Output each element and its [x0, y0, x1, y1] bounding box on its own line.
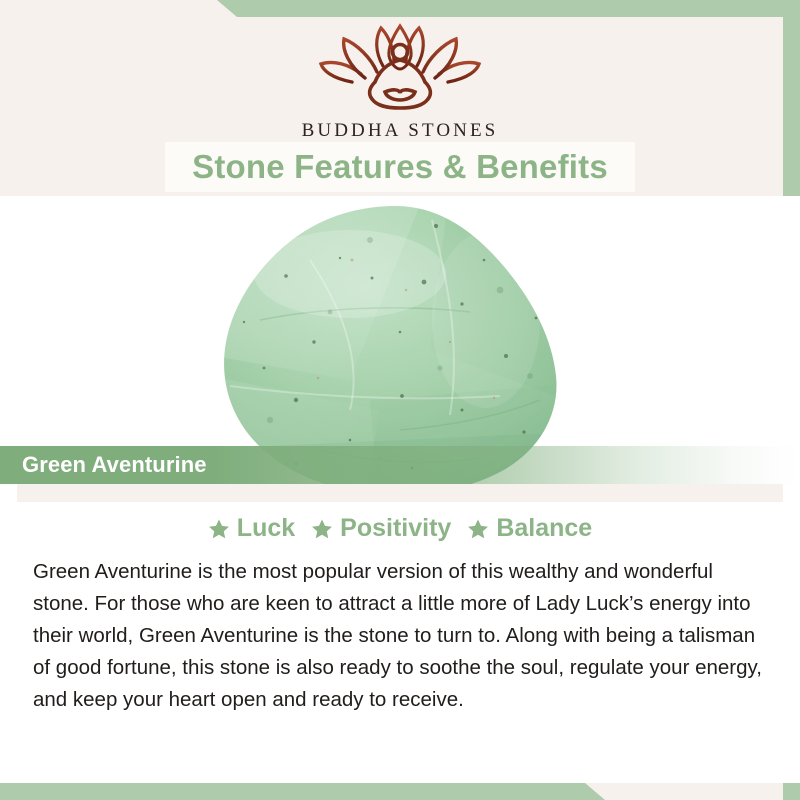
stone-name-label: Green Aventurine [22, 452, 207, 478]
poster-canvas: BUDDHA STONES Stone Features & Benefits [0, 0, 800, 800]
star-icon [467, 518, 489, 540]
benefit-label: Luck [237, 514, 295, 543]
benefit-item-luck: Luck [208, 514, 295, 543]
description-panel: Luck Positivity Balance Green Aventurine… [0, 484, 800, 783]
benefit-item-positivity: Positivity [311, 514, 451, 543]
brand-name: BUDDHA STONES [0, 120, 800, 142]
headline-banner: Stone Features & Benefits [165, 142, 635, 192]
benefit-label: Balance [496, 514, 592, 543]
benefit-label: Positivity [340, 514, 451, 543]
star-icon [208, 518, 230, 540]
page-title: Stone Features & Benefits [192, 148, 608, 186]
frame-bottom-bar [0, 783, 605, 800]
description-text: Green Aventurine is the most popular ver… [33, 556, 773, 716]
lotus-meditation-icon [315, 22, 485, 114]
benefits-row: Luck Positivity Balance [0, 514, 800, 543]
panel-divider [17, 484, 783, 502]
star-icon [311, 518, 333, 540]
frame-top-bar [217, 0, 800, 17]
stone-name-band: Green Aventurine [0, 446, 800, 484]
benefit-item-balance: Balance [467, 514, 592, 543]
brand-block: BUDDHA STONES [0, 22, 800, 142]
